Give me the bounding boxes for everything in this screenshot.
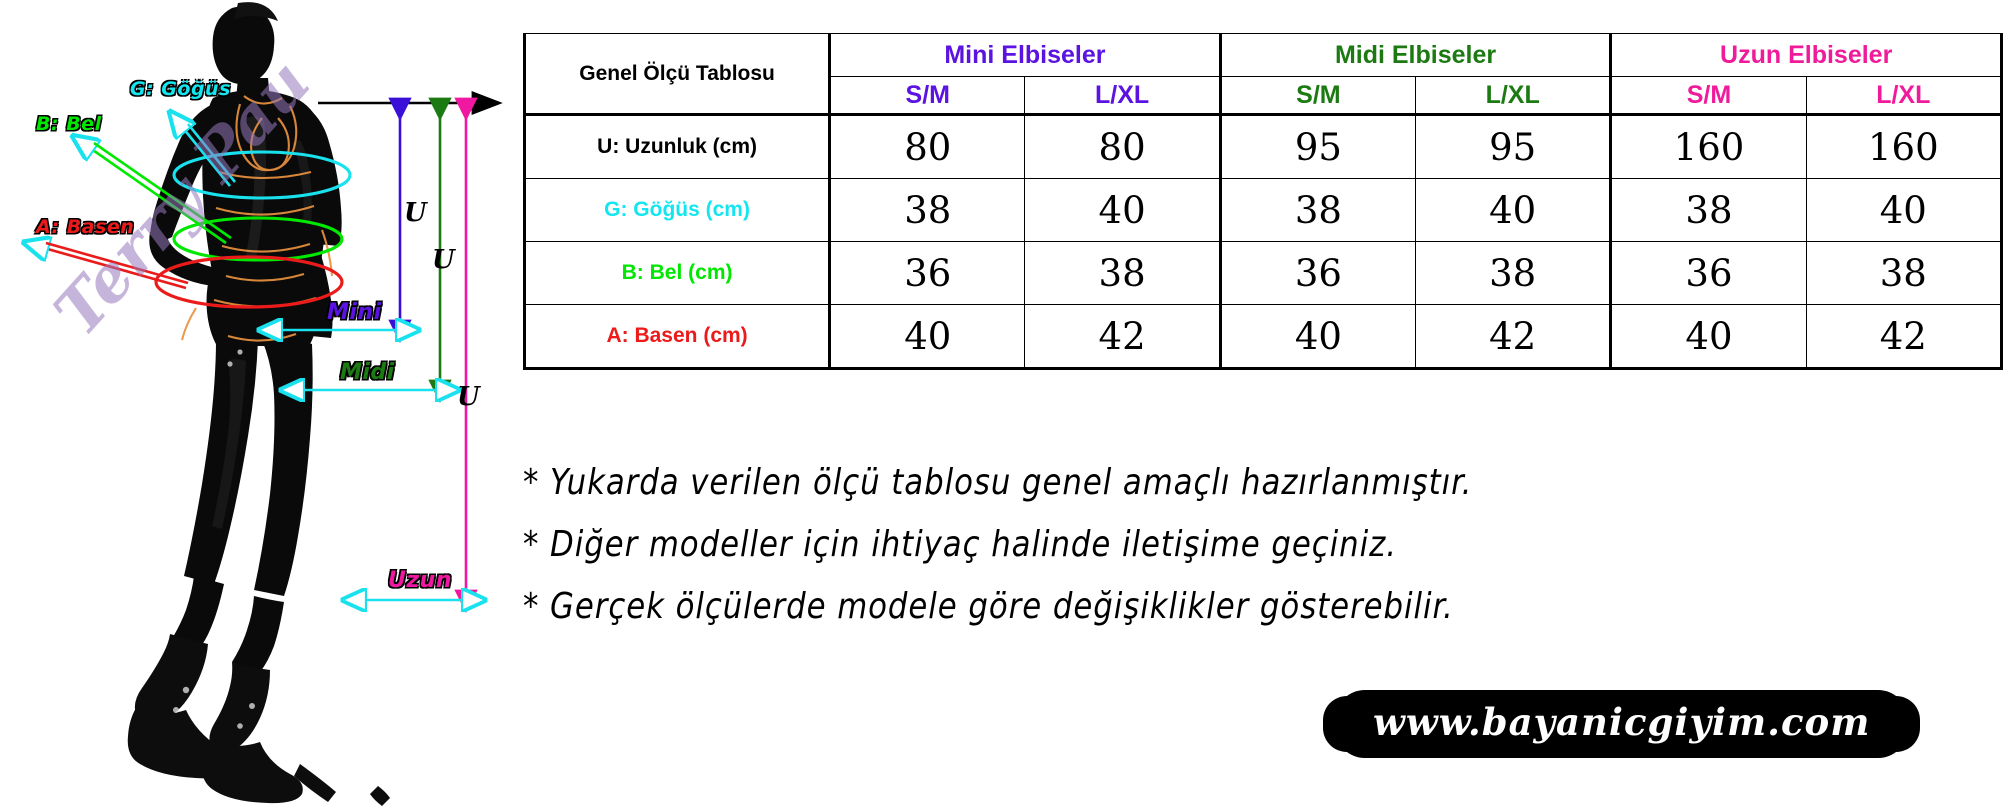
table-row-gogus: G: Göğüs (cm) 38 40 38 40 38 40 xyxy=(525,179,2002,242)
cell-bel-midi-lxl: 38 xyxy=(1416,242,1611,305)
annotation-basen: A: Basen xyxy=(36,216,134,238)
table-row-basen: A: Basen (cm) 40 42 40 42 40 42 xyxy=(525,305,2002,369)
size-header-midi-sm: S/M xyxy=(1220,77,1415,115)
cell-basen-midi-sm: 40 xyxy=(1220,305,1415,369)
cell-basen-uzun-sm: 40 xyxy=(1611,305,1806,369)
table-corner-label: Genel Ölçü Tablosu xyxy=(525,34,830,115)
cell-gogus-uzun-sm: 38 xyxy=(1611,179,1806,242)
website-banner[interactable]: www.bayanicgiyim.com xyxy=(1339,694,1904,754)
size-chart-page: Terry Pau G: Göğüs B: Bel A: Basen Mini … xyxy=(0,0,2010,811)
measurement-table-panel: Genel Ölçü Tablosu Mini Elbiseler Midi E… xyxy=(515,0,2010,811)
length-mark-uzun: U xyxy=(457,382,480,412)
annotation-gogus: G: Göğüs xyxy=(130,78,231,100)
website-url: www.bayanicgiyim.com xyxy=(1373,700,1870,744)
annotation-uzun: Uzun xyxy=(388,568,452,593)
annotation-midi: Midi xyxy=(340,360,395,385)
length-measure-bars xyxy=(400,108,466,600)
annotation-mini: Mini xyxy=(327,300,382,325)
cell-uzunluk-midi-lxl: 95 xyxy=(1416,115,1611,179)
cell-gogus-midi-lxl: 40 xyxy=(1416,179,1611,242)
size-header-uzun-sm: S/M xyxy=(1611,77,1806,115)
cell-basen-midi-lxl: 42 xyxy=(1416,305,1611,369)
cell-gogus-midi-sm: 38 xyxy=(1220,179,1415,242)
notes-list: * Yukarda verilen ölçü tablosu genel ama… xyxy=(523,452,2003,638)
row-label-gogus: G: Göğüs (cm) xyxy=(525,179,830,242)
table-row-uzunluk: U: Uzunluk (cm) 80 80 95 95 160 160 xyxy=(525,115,2002,179)
cell-basen-mini-lxl: 42 xyxy=(1025,305,1220,369)
note-line-1: * Yukarda verilen ölçü tablosu genel ama… xyxy=(523,452,1929,514)
group-header-uzun: Uzun Elbiseler xyxy=(1611,34,2002,77)
size-header-mini-sm: S/M xyxy=(830,77,1025,115)
model-illustration-panel: Terry Pau G: Göğüs B: Bel A: Basen Mini … xyxy=(0,0,515,811)
cell-gogus-uzun-lxl: 40 xyxy=(1806,179,2001,242)
cell-uzunluk-uzun-sm: 160 xyxy=(1611,115,1806,179)
cell-uzunluk-mini-sm: 80 xyxy=(830,115,1025,179)
length-mark-mini: U xyxy=(404,198,427,228)
model-silhouette xyxy=(128,2,390,806)
cell-bel-uzun-lxl: 38 xyxy=(1806,242,2001,305)
length-mark-midi: U xyxy=(432,245,455,275)
size-header-midi-lxl: L/XL xyxy=(1416,77,1611,115)
cell-bel-mini-sm: 36 xyxy=(830,242,1025,305)
group-header-midi: Midi Elbiseler xyxy=(1220,34,1611,77)
group-header-mini: Mini Elbiseler xyxy=(830,34,1221,77)
cell-bel-mini-lxl: 38 xyxy=(1025,242,1220,305)
cell-basen-mini-sm: 40 xyxy=(830,305,1025,369)
row-label-basen: A: Basen (cm) xyxy=(525,305,830,369)
cell-uzunluk-uzun-lxl: 160 xyxy=(1806,115,2001,179)
size-header-uzun-lxl: L/XL xyxy=(1806,77,2001,115)
annotation-bel: B: Bel xyxy=(36,113,102,135)
table-row-bel: B: Bel (cm) 36 38 36 38 36 38 xyxy=(525,242,2002,305)
note-line-3: * Gerçek ölçülerde modele göre değişikli… xyxy=(523,576,1929,638)
cell-uzunluk-mini-lxl: 80 xyxy=(1025,115,1220,179)
row-label-uzunluk: U: Uzunluk (cm) xyxy=(525,115,830,179)
table-group-header-row: Genel Ölçü Tablosu Mini Elbiseler Midi E… xyxy=(525,34,2002,77)
cell-basen-uzun-lxl: 42 xyxy=(1806,305,2001,369)
cell-gogus-mini-lxl: 40 xyxy=(1025,179,1220,242)
cell-bel-midi-sm: 36 xyxy=(1220,242,1415,305)
cell-bel-uzun-sm: 36 xyxy=(1611,242,1806,305)
note-line-2: * Diğer modeller için ihtiyaç halinde il… xyxy=(523,514,1929,576)
row-label-bel: B: Bel (cm) xyxy=(525,242,830,305)
size-table: Genel Ölçü Tablosu Mini Elbiseler Midi E… xyxy=(523,33,2003,370)
cell-uzunluk-midi-sm: 95 xyxy=(1220,115,1415,179)
size-header-mini-lxl: L/XL xyxy=(1025,77,1220,115)
cell-gogus-mini-sm: 38 xyxy=(830,179,1025,242)
